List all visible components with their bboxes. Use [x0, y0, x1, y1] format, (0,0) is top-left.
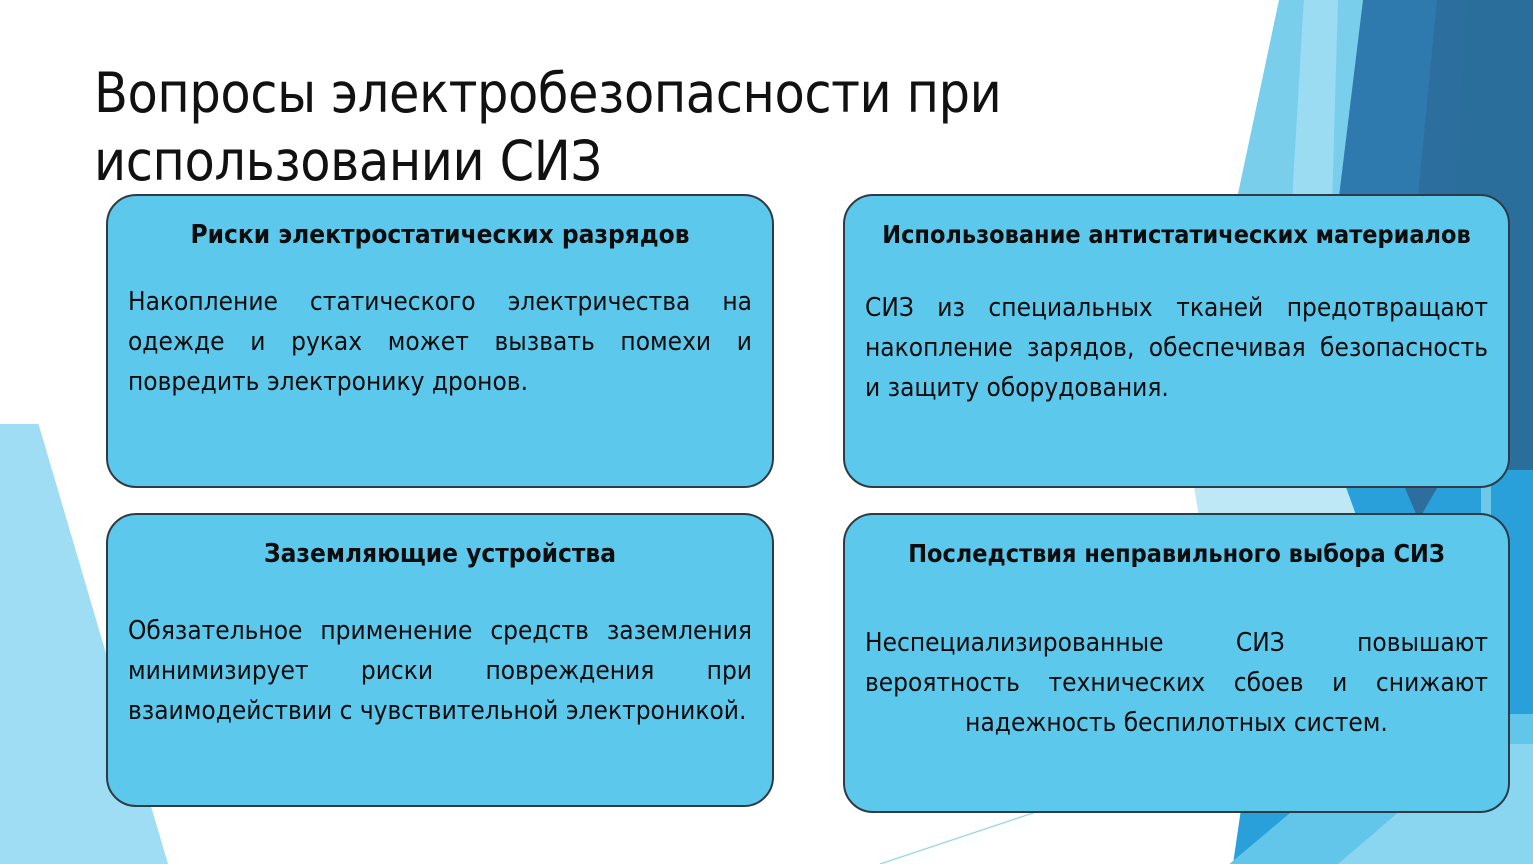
card-body: Обязательное применение средств заземлен…	[128, 611, 752, 731]
slide-canvas: Вопросы электробезопасности при использо…	[0, 0, 1533, 864]
card-body: СИЗ из специальных тканей предотвращают …	[865, 288, 1488, 408]
card-body: Накопление статического электричества на…	[128, 282, 752, 402]
card-title: Заземляющие устройства	[128, 537, 752, 571]
card-risks-electrostatic-discharge[interactable]: Риски электростатических разрядов Накопл…	[106, 194, 774, 488]
card-antistatic-materials[interactable]: Использование антистатических материалов…	[843, 194, 1510, 488]
card-title: Последствия неправильного выбора СИЗ	[865, 537, 1488, 571]
page-title: Вопросы электробезопасности при использо…	[94, 59, 1384, 195]
card-title: Использование антистатических материалов	[865, 218, 1488, 252]
card-grounding-devices[interactable]: Заземляющие устройства Обязательное прим…	[106, 513, 774, 807]
card-title: Риски электростатических разрядов	[128, 218, 752, 252]
card-body: Неспециализированные СИЗ повышают вероят…	[865, 623, 1488, 743]
card-consequences-wrong-ppe-choice[interactable]: Последствия неправильного выбора СИЗ Нес…	[843, 513, 1510, 813]
